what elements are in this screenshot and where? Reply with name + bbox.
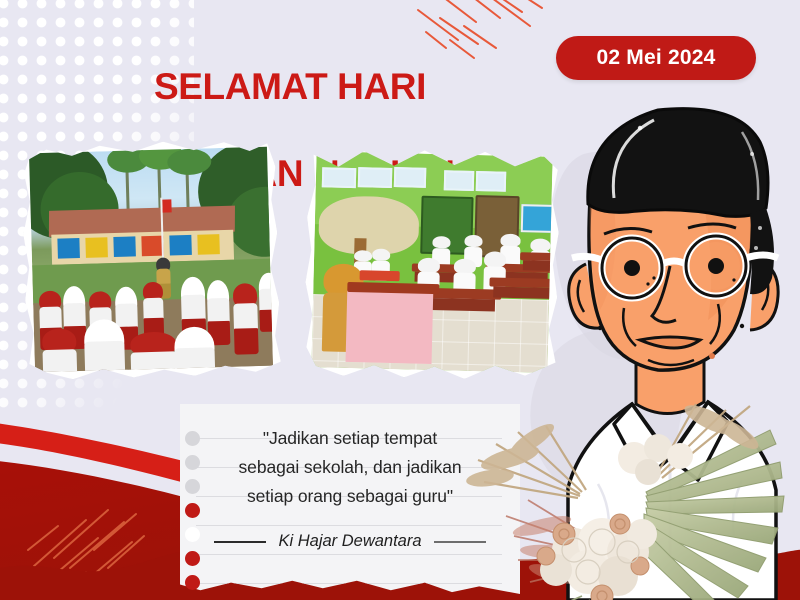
dried-floral-bouquet-decoration [470,400,800,600]
quote-attribution-row: Ki Hajar Dewantara [196,532,504,551]
punch-hole-icon [185,431,200,446]
attribution-dash-left [214,541,266,543]
punch-hole-icon [185,479,200,494]
date-badge: 02 Mei 2024 [556,36,756,80]
flag-ceremony-photo [21,138,281,380]
poster-canvas: SELAMAT HARI PENDIDIKAN NASIONAL 02 Mei … [0,0,800,600]
quote-line-1: "Jadikan setiap tempat [196,424,504,453]
quote-line-2: sebagai sekolah, dan jadikan [196,453,504,482]
punch-hole-icon [185,527,200,542]
punch-hole-icon [185,455,200,470]
classroom-photo [303,143,561,381]
quote-line-3: setiap orang sebagai guru" [196,482,504,511]
title-line-1: SELAMAT HARI [0,65,580,108]
punch-hole-icon [185,503,200,518]
quote-attribution: Ki Hajar Dewantara [278,532,421,551]
quote-text: "Jadikan setiap tempat sebagai sekolah, … [196,424,504,512]
quote-card: "Jadikan setiap tempat sebagai sekolah, … [180,404,520,594]
punch-hole-icon [185,551,200,566]
date-badge-label: 02 Mei 2024 [597,46,716,70]
punch-hole-icon [185,575,200,590]
